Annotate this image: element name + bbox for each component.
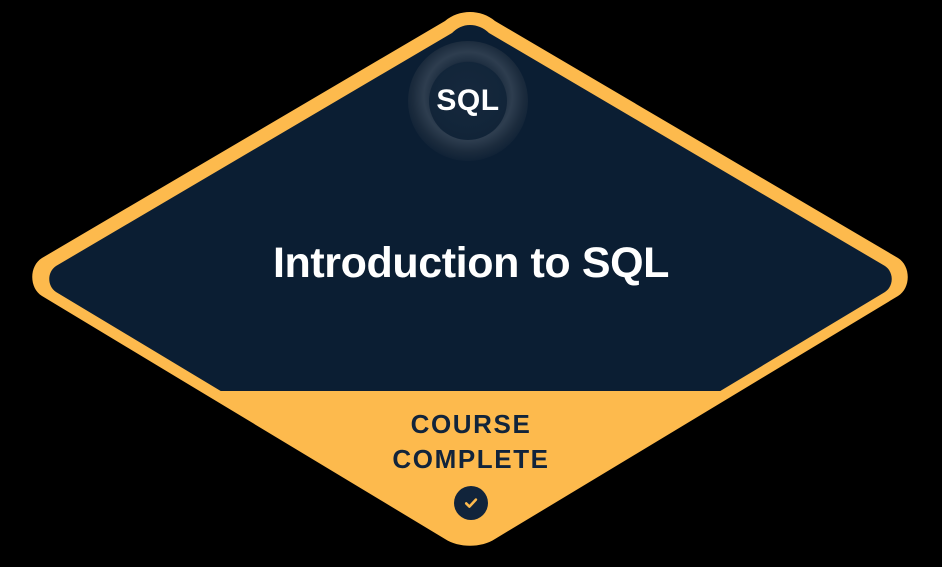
badge-diamond-graphic <box>0 0 942 567</box>
course-completion-badge: SQL Introduction to SQL COURSE COMPLETE <box>0 0 942 567</box>
diamond-inner-surface <box>0 0 942 391</box>
